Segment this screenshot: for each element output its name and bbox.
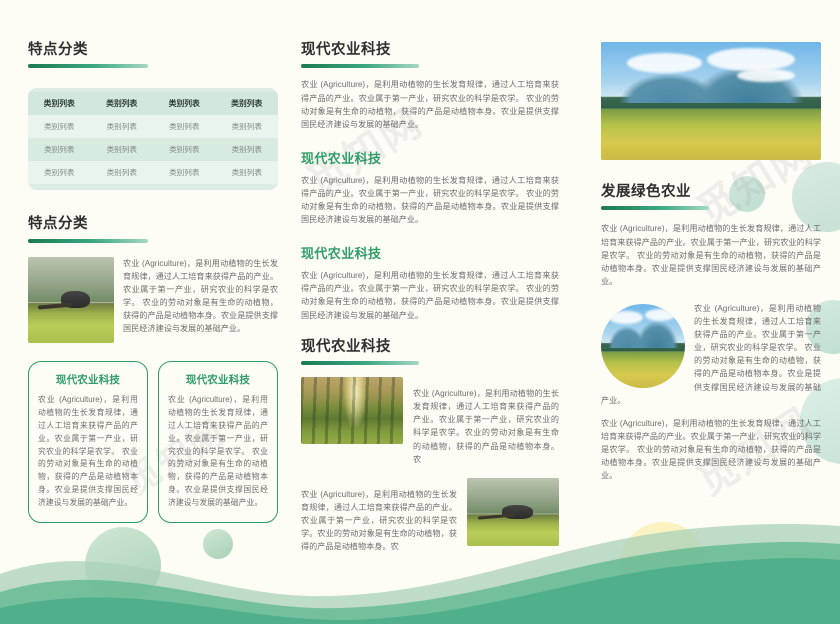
heading-underline <box>28 64 148 68</box>
category-table-container: 类别列表 类别列表 类别列表 类别列表 类别列表 类别列表 类别列表 类别列表 … <box>28 88 278 190</box>
mid-block-2: 现代农业科技 农业 (Agriculture)，是利用动植物的生长发育规律，通过… <box>301 148 559 226</box>
right-column: 发展绿色农业 农业 (Agriculture)，是利用动植物的生长发育规律，通过… <box>601 42 821 482</box>
mid-block-3-text: 农业 (Agriculture)，是利用动植物的生长发育规律，通过人工培育来获得… <box>301 269 559 321</box>
table-header-cell: 类别列表 <box>91 92 154 115</box>
heading-text: 现代农业科技 <box>301 243 559 262</box>
table-cell: 类别列表 <box>216 138 279 161</box>
section-heading-feature-classification-1: 特点分类 <box>28 42 278 68</box>
heading-text: 现代农业科技 <box>301 42 559 59</box>
heading-underline <box>28 239 148 243</box>
table-row: 类别列表 类别列表 类别列表 类别列表 <box>28 161 278 184</box>
table-head: 类别列表 类别列表 类别列表 类别列表 <box>28 92 278 115</box>
table-cell: 类别列表 <box>28 161 91 184</box>
table-header-cell: 类别列表 <box>216 92 279 115</box>
heading-text: 特点分类 <box>28 42 278 59</box>
green-valley-photo <box>601 304 685 388</box>
heading-text: 发展绿色农业 <box>601 184 821 201</box>
info-card[interactable]: 现代农业科技 农业 (Agriculture)，是利用动植物的生长发育规律，通过… <box>158 361 278 523</box>
buffalo-ploughing-photo <box>28 257 114 343</box>
section-heading-feature-classification-2: 特点分类 <box>28 216 278 242</box>
table-header-row: 类别列表 类别列表 类别列表 类别列表 <box>28 92 278 115</box>
mid-figure-row-2: 农业 (Agriculture)，是利用动植物的生长发育规律，通过人工培育来获得… <box>301 478 559 554</box>
table-cell: 类别列表 <box>153 161 216 184</box>
left-figure-text: 农业 (Agriculture)，是利用动植物的生长发育规律，通过人工培育来获得… <box>123 257 278 336</box>
mid-figure-2-text: 农业 (Agriculture)，是利用动植物的生长发育规律，通过人工培育来获得… <box>301 488 457 554</box>
right-round-figure: 农业 (Agriculture)，是利用动植物的生长发育规律，通过人工培育来获得… <box>601 302 821 407</box>
table-row: 类别列表 类别列表 类别列表 类别列表 <box>28 115 278 138</box>
buffalo-in-field-photo <box>467 478 559 546</box>
mid-figure-row-1: 农业 (Agriculture)，是利用动植物的生长发育规律，通过人工培育来获得… <box>301 377 559 466</box>
info-card-title: 现代农业科技 <box>168 372 268 387</box>
table-cell: 类别列表 <box>153 138 216 161</box>
heading-text: 现代农业科技 <box>301 148 559 167</box>
left-column: 特点分类 类别列表 类别列表 类别列表 类别列表 类别列表 类别列表 <box>28 42 278 523</box>
mid-figure-1-text: 农业 (Agriculture)，是利用动植物的生长发育规律，通过人工培育来获得… <box>413 387 559 466</box>
middle-column: 现代农业科技 农业 (Agriculture)，是利用动植物的生长发育规律，通过… <box>301 42 559 570</box>
table-cell: 类别列表 <box>216 115 279 138</box>
info-card-title: 现代农业科技 <box>38 372 138 387</box>
mid-block-4: 现代农业科技 农业 (Agriculture)，是利用动植物的生长发育规律，通过… <box>301 339 559 554</box>
table-cell: 类别列表 <box>91 161 154 184</box>
mid-block-1-text: 农业 (Agriculture)，是利用动植物的生长发育规律，通过人工培育来获得… <box>301 78 559 130</box>
table-header-cell: 类别列表 <box>153 92 216 115</box>
table-cell: 类别列表 <box>28 138 91 161</box>
table-cell: 类别列表 <box>216 161 279 184</box>
info-card-text: 农业 (Agriculture)，是利用动植物的生长发育规律，通过人工培育来获得… <box>38 394 138 510</box>
table-cell: 类别列表 <box>91 115 154 138</box>
right-outro-text: 农业 (Agriculture)，是利用动植物的生长发育规律，通过人工培育来获得… <box>601 417 821 483</box>
table-cell: 类别列表 <box>153 115 216 138</box>
mid-block-1: 现代农业科技 农业 (Agriculture)，是利用动植物的生长发育规律，通过… <box>301 42 559 131</box>
heading-underline <box>301 361 419 365</box>
right-intro-text: 农业 (Agriculture)，是利用动植物的生长发育规律，通过人工培育来获得… <box>601 222 821 288</box>
heading-text: 特点分类 <box>28 216 278 233</box>
mid-block-2-text: 农业 (Agriculture)，是利用动植物的生长发育规律，通过人工培育来获得… <box>301 174 559 226</box>
info-card-text: 农业 (Agriculture)，是利用动植物的生长发育规律，通过人工培育来获得… <box>168 394 268 510</box>
section-heading-green-agriculture: 发展绿色农业 <box>601 184 821 210</box>
sunlit-forest-photo <box>301 377 403 444</box>
category-table: 类别列表 类别列表 类别列表 类别列表 类别列表 类别列表 类别列表 类别列表 … <box>28 92 278 184</box>
info-card-group: 现代农业科技 农业 (Agriculture)，是利用动植物的生长发育规律，通过… <box>28 361 278 523</box>
table-cell: 类别列表 <box>28 115 91 138</box>
heading-text: 现代农业科技 <box>301 339 559 356</box>
table-cell: 类别列表 <box>91 138 154 161</box>
info-card[interactable]: 现代农业科技 农业 (Agriculture)，是利用动植物的生长发育规律，通过… <box>28 361 148 523</box>
table-body: 类别列表 类别列表 类别列表 类别列表 类别列表 类别列表 类别列表 类别列表 … <box>28 115 278 184</box>
heading-underline <box>601 206 709 210</box>
heading-underline <box>301 64 419 68</box>
table-header-cell: 类别列表 <box>28 92 91 115</box>
table-row: 类别列表 类别列表 类别列表 类别列表 <box>28 138 278 161</box>
poster-canvas: 觅知网 觅知网 觅知网 觅知网 特点分类 类别列表 类别列表 类别列表 类别列表 <box>0 0 840 624</box>
left-figure-row: 农业 (Agriculture)，是利用动植物的生长发育规律，通过人工培育来获得… <box>28 257 278 343</box>
mid-block-3: 现代农业科技 农业 (Agriculture)，是利用动植物的生长发育规律，通过… <box>301 243 559 321</box>
rice-field-mountains-photo <box>601 42 821 160</box>
